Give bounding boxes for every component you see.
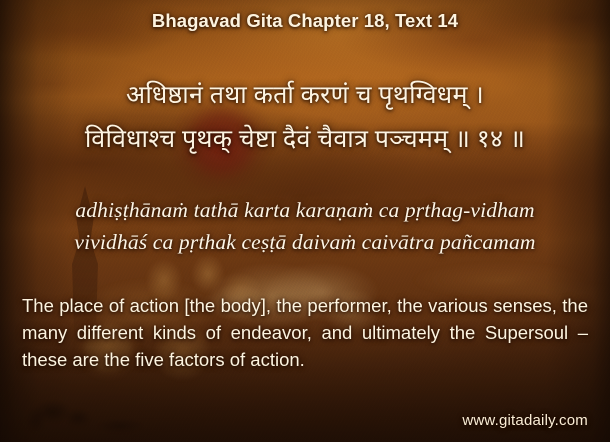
- sanskrit-line: विविधाश्च पृथक् चेष्टा दैवं चैवात्र पञ्च…: [0, 118, 610, 162]
- transliteration-line: vividhāś ca pṛthak ceṣṭā daivaṁ caivātra…: [0, 226, 610, 258]
- page-title: Bhagavad Gita Chapter 18, Text 14: [0, 10, 610, 32]
- gita-verse-card: Bhagavad Gita Chapter 18, Text 14 अधिष्ठ…: [0, 0, 610, 442]
- sanskrit-verse: अधिष्ठानं तथा कर्ता करणं च पृथग्विधम् । …: [0, 74, 610, 162]
- transliteration-line: adhiṣṭhānaṁ tathā karta karaṇaṁ ca pṛtha…: [0, 194, 610, 226]
- sanskrit-line: अधिष्ठानं तथा कर्ता करणं च पृथग्विधम् ।: [0, 74, 610, 118]
- transliteration-verse: adhiṣṭhānaṁ tathā karta karaṇaṁ ca pṛtha…: [0, 194, 610, 258]
- verse-content: Bhagavad Gita Chapter 18, Text 14 अधिष्ठ…: [0, 0, 610, 442]
- translation-text: The place of action [the body], the perf…: [22, 292, 588, 373]
- website-url: www.gitadaily.com: [462, 412, 588, 429]
